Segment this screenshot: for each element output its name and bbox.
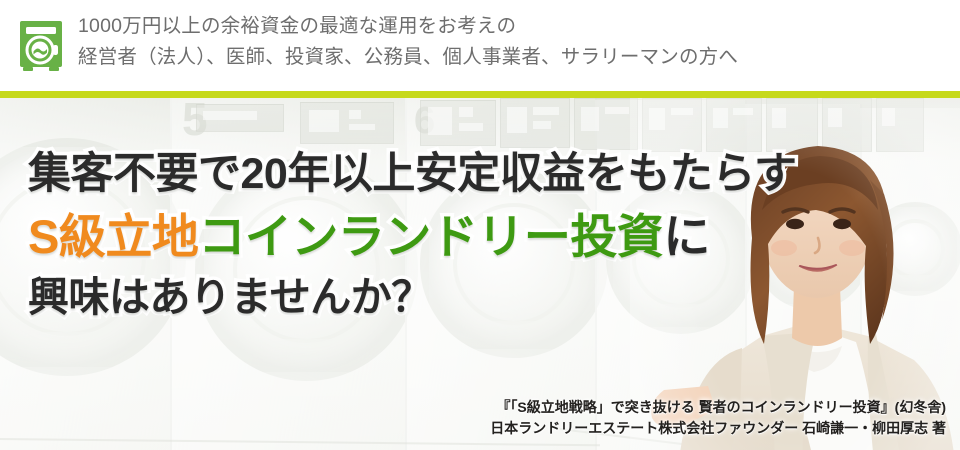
banner-stage: 5 6 <box>0 98 960 450</box>
headline-block: 集客不要で20年以上安定収益をもたらす S級立地コインランドリー投資に 興味はあ… <box>28 148 796 322</box>
book-credit: 『「S級立地戦略」で突き抜ける 賢者のコインランドリー投資』(幻冬舎) 日本ラン… <box>490 397 946 439</box>
headline-line-2-tail: に <box>663 210 710 263</box>
book-authors: 日本ランドリーエステート株式会社ファウンダー 石崎謙一・柳田厚志 著 <box>490 418 946 439</box>
headline-highlight-orange: S級立地 <box>28 210 198 263</box>
header-line-2: 経営者（法人）、医師、投資家、公務員、個人事業者、サラリーマンの方へ <box>78 42 738 73</box>
promo-banner: 1000万円以上の余裕資金の最適な運用をお考えの 経営者（法人）、医師、投資家、… <box>0 0 960 450</box>
washing-machine-icon <box>18 20 64 72</box>
headline-line-2: S級立地コインランドリー投資に <box>28 208 796 266</box>
header-line-1: 1000万円以上の余裕資金の最適な運用をお考えの <box>78 11 738 42</box>
book-title: 『「S級立地戦略」で突き抜ける 賢者のコインランドリー投資』(幻冬舎) <box>490 397 946 418</box>
headline-line-3: 興味はありませんか？ <box>28 272 796 322</box>
banner-header: 1000万円以上の余裕資金の最適な運用をお考えの 経営者（法人）、医師、投資家、… <box>0 0 960 91</box>
headline-highlight-green: コインランドリー投資 <box>198 210 663 263</box>
headline-line-1: 集客不要で20年以上安定収益をもたらす <box>28 148 796 200</box>
lime-divider <box>0 91 960 98</box>
header-lead-text: 1000万円以上の余裕資金の最適な運用をお考えの 経営者（法人）、医師、投資家、… <box>78 11 738 73</box>
